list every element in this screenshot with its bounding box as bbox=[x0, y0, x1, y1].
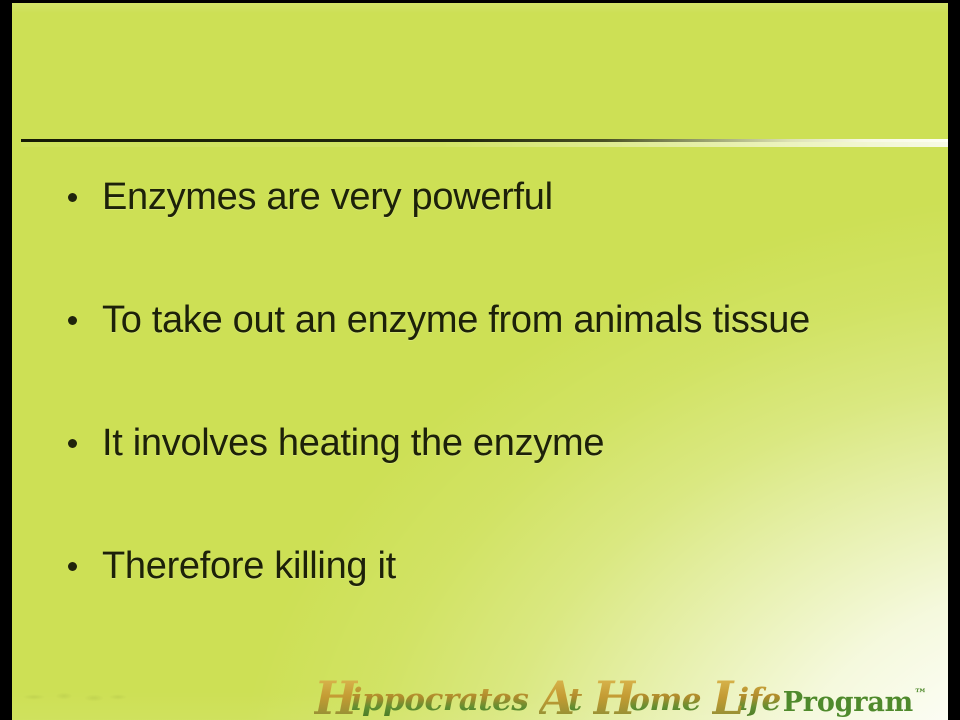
logo-cap-h2: H bbox=[593, 679, 636, 719]
letterbox-right bbox=[948, 0, 960, 720]
bullet-text: To take out an enzyme from animals tissu… bbox=[102, 298, 810, 343]
presentation-slide: Enzymes are very powerful To take out an… bbox=[12, 3, 948, 720]
bullet-dot-icon bbox=[68, 193, 77, 202]
logo-word-program: Program bbox=[783, 689, 913, 716]
list-item: Enzymes are very powerful bbox=[12, 169, 948, 292]
list-item: It involves heating the enzyme bbox=[12, 415, 948, 538]
bullet-text: Therefore killing it bbox=[102, 544, 396, 589]
logo-word-home: ome bbox=[629, 685, 703, 716]
logo-word-hippocrates: ippocrates bbox=[351, 685, 531, 716]
logo-cap-h1: H bbox=[314, 679, 357, 719]
bullet-dot-icon bbox=[68, 562, 77, 571]
bullet-text: Enzymes are very powerful bbox=[102, 175, 553, 220]
title-divider-highlight bbox=[21, 142, 948, 147]
letterbox-left bbox=[0, 0, 12, 720]
slide-title-area bbox=[12, 3, 948, 142]
brand-logo: HippocratesAtHomeLifeProgram™ bbox=[314, 660, 926, 716]
list-item: Therefore killing it bbox=[12, 538, 948, 661]
video-frame: Enzymes are very powerful To take out an… bbox=[0, 0, 960, 720]
bullet-dot-icon bbox=[68, 439, 77, 448]
bullet-text: It involves heating the enzyme bbox=[102, 421, 604, 466]
bullet-list: Enzymes are very powerful To take out an… bbox=[12, 169, 948, 661]
trademark-icon: ™ bbox=[914, 687, 927, 702]
logo-cap-l: L bbox=[712, 679, 744, 719]
bullet-dot-icon bbox=[68, 316, 77, 325]
background-watermark-smudge bbox=[20, 688, 128, 706]
list-item: To take out an enzyme from animals tissu… bbox=[12, 292, 948, 415]
logo-cap-a: A bbox=[539, 679, 575, 719]
